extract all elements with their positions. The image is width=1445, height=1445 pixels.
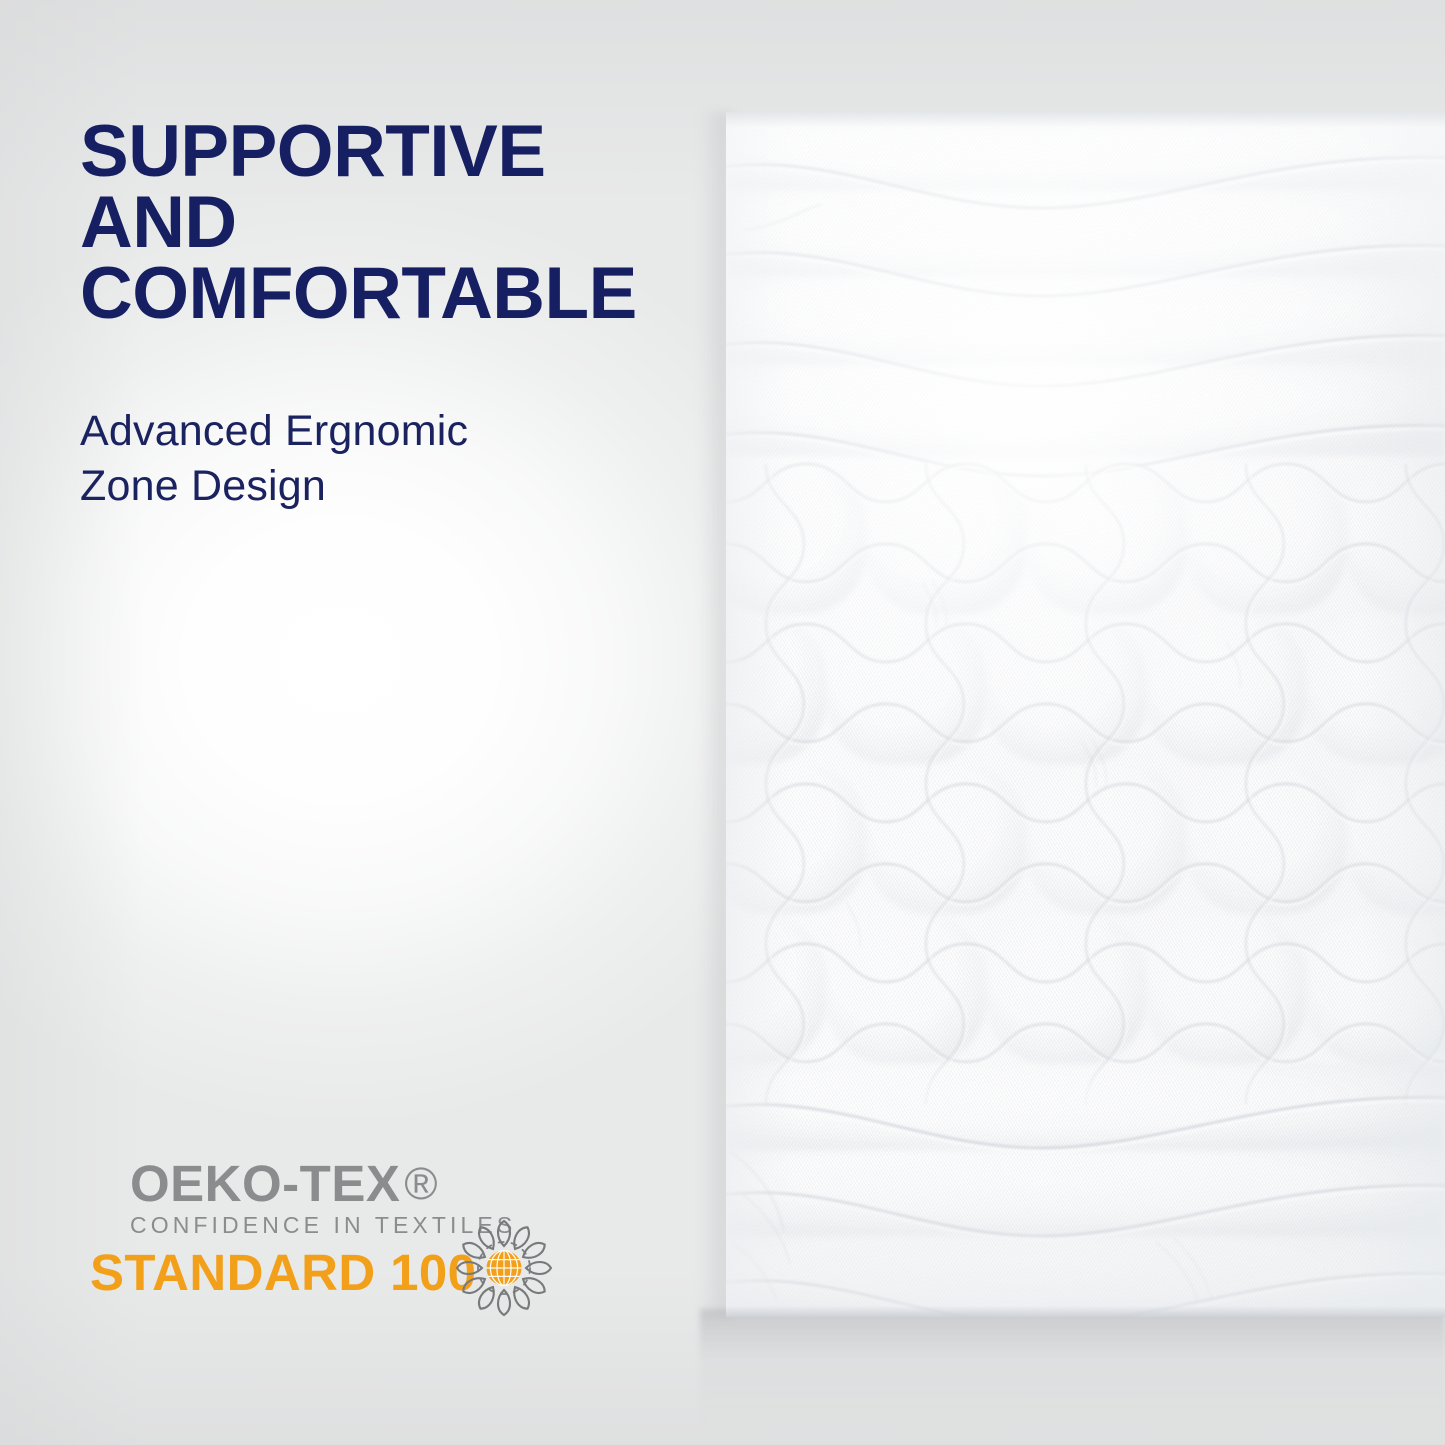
- oeko-tex-certification-badge: OEKO-TEX® CONFIDENCE IN TEXTILES STANDAR…: [86, 1158, 566, 1323]
- product-image-mattress-topper: [726, 112, 1445, 1317]
- fabric-bottom-edge: [726, 1301, 1445, 1317]
- oeko-tex-globe-loops-icon: [452, 1216, 556, 1320]
- registered-trademark-icon: ®: [404, 1158, 437, 1209]
- globe-icon: [487, 1251, 522, 1286]
- product-feature-banner: SUPPORTIVE AND COMFORTABLE Advanced Ergn…: [0, 0, 1445, 1445]
- product-bottom-shadow: [700, 1309, 1445, 1429]
- page-title-headline: SUPPORTIVE AND COMFORTABLE: [80, 116, 680, 329]
- fabric-lighting-overlay: [726, 112, 1445, 1317]
- subheadline: Advanced Ergnomic Zone Design: [80, 404, 620, 514]
- oeko-tex-brand-text: OEKO-TEX: [130, 1155, 400, 1212]
- oeko-tex-brand-name: OEKO-TEX®: [130, 1158, 438, 1210]
- oeko-tex-standard-label: STANDARD 100: [90, 1246, 476, 1300]
- fabric-top-edge: [726, 112, 1445, 138]
